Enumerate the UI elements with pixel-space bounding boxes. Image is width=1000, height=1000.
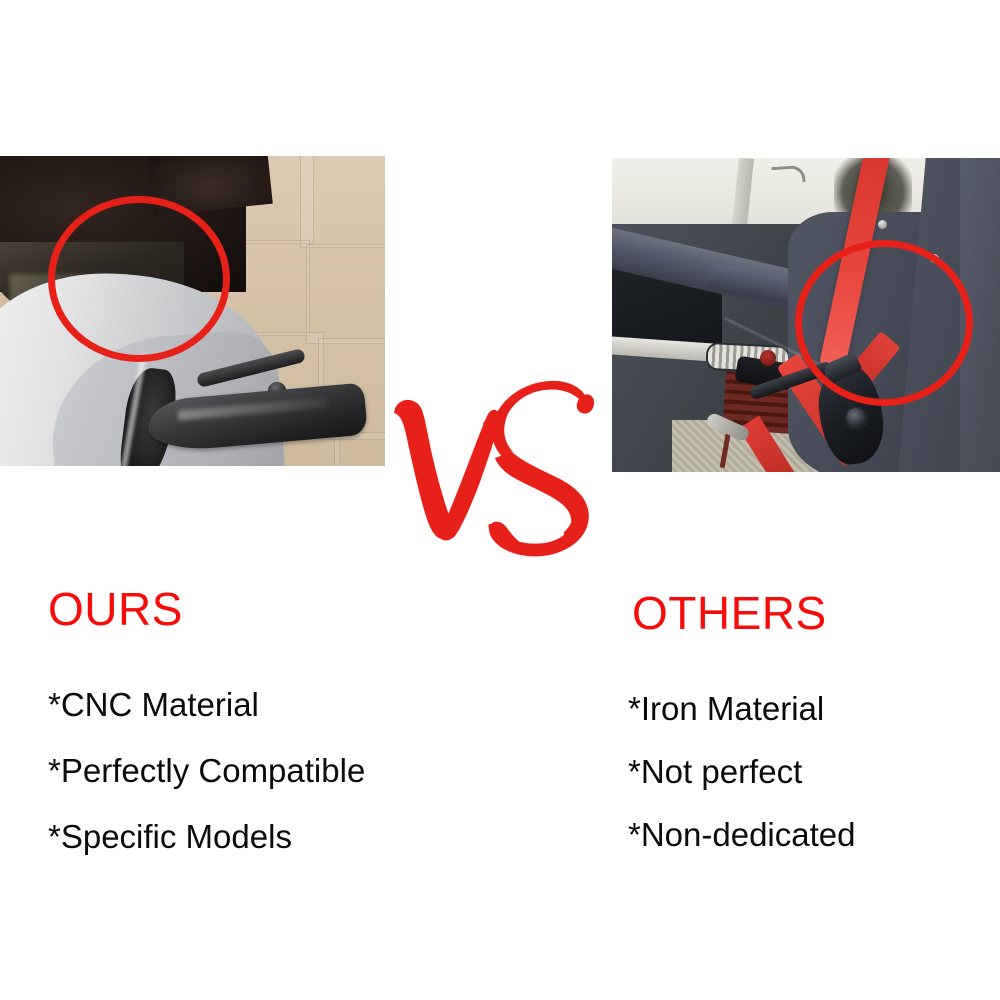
bullets-ours: *CNC Material *Perfectly Compatible *Spe… [48, 688, 365, 853]
exhaust-red-cap [760, 350, 776, 366]
list-item: *Perfectly Compatible [48, 754, 365, 787]
fairing-bolt [878, 220, 887, 229]
list-item: *Non-dedicated [628, 818, 856, 851]
list-item: *Not perfect [628, 755, 856, 788]
paving-stone [300, 156, 385, 248]
paving-stone [334, 432, 385, 466]
list-item: *Iron Material [628, 692, 856, 725]
highlight-circle-others [795, 240, 973, 406]
comparison-infographic: OURS *CNC Material *Perfectly Compatible… [0, 0, 1000, 1000]
heading-others: OTHERS [632, 590, 827, 636]
bullets-others: *Iron Material *Not perfect *Non-dedicat… [628, 692, 856, 881]
highlight-ellipse-ours [48, 196, 230, 362]
list-item: *CNC Material [48, 688, 365, 721]
paving-stone [306, 244, 385, 344]
vs-brush-mark [392, 372, 608, 562]
photo-ours [0, 156, 385, 466]
list-item: *Specific Models [48, 820, 365, 853]
photo-others [612, 158, 1000, 472]
heading-ours: OURS [48, 586, 183, 632]
mirror-mount-bolt [846, 408, 866, 428]
